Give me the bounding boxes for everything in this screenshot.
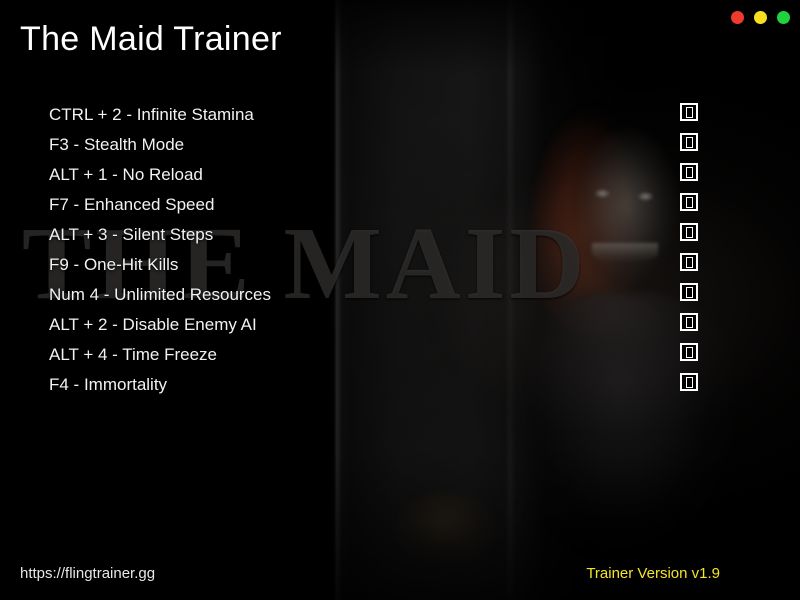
cheat-toggle-knob xyxy=(686,347,693,358)
cheat-row[interactable]: F9 - One-Hit Kills xyxy=(49,250,749,280)
cheat-toggle-2[interactable] xyxy=(680,133,698,151)
cheat-toggle-knob xyxy=(686,317,693,328)
cheat-label: F3 - Stealth Mode xyxy=(49,135,184,155)
trainer-window: THE MAID The Maid Trainer CTRL + 2 - Inf… xyxy=(0,0,800,600)
cheat-toggle-9[interactable] xyxy=(680,343,698,361)
cheat-label: ALT + 3 - Silent Steps xyxy=(49,225,213,245)
cheat-toggle-knob xyxy=(686,167,693,178)
cheat-row[interactable]: F3 - Stealth Mode xyxy=(49,130,749,160)
cheat-toggle-knob xyxy=(686,227,693,238)
cheat-label: F7 - Enhanced Speed xyxy=(49,195,214,215)
cheat-toggle-1[interactable] xyxy=(680,103,698,121)
footer-website-link[interactable]: https://flingtrainer.gg xyxy=(20,565,155,582)
cheat-row[interactable]: Num 4 - Unlimited Resources xyxy=(49,280,749,310)
cheat-label: F9 - One-Hit Kills xyxy=(49,255,178,275)
page-title: The Maid Trainer xyxy=(20,20,282,59)
cheat-toggle-10[interactable] xyxy=(680,373,698,391)
cheat-row[interactable]: ALT + 4 - Time Freeze xyxy=(49,340,749,370)
cheat-toggle-knob xyxy=(686,197,693,208)
cheat-row[interactable]: CTRL + 2 - Infinite Stamina xyxy=(49,100,749,130)
figure-hand xyxy=(396,492,494,562)
maximize-button[interactable] xyxy=(777,11,790,24)
footer-version-label: Trainer Version v1.9 xyxy=(586,565,720,582)
cheat-toggle-6[interactable] xyxy=(680,253,698,271)
cheat-label: ALT + 1 - No Reload xyxy=(49,165,203,185)
cheat-toggle-8[interactable] xyxy=(680,313,698,331)
cheat-toggle-knob xyxy=(686,287,693,298)
cheat-row[interactable]: F7 - Enhanced Speed xyxy=(49,190,749,220)
cheat-label: F4 - Immortality xyxy=(49,375,167,395)
cheat-toggle-knob xyxy=(686,257,693,268)
cheat-label: CTRL + 2 - Infinite Stamina xyxy=(49,105,254,125)
cheat-row[interactable]: F4 - Immortality xyxy=(49,370,749,400)
cheat-label: ALT + 4 - Time Freeze xyxy=(49,345,217,365)
cheat-row[interactable]: ALT + 3 - Silent Steps xyxy=(49,220,749,250)
cheat-toggle-knob xyxy=(686,137,693,148)
cheat-toggle-4[interactable] xyxy=(680,193,698,211)
cheat-row[interactable]: ALT + 2 - Disable Enemy AI xyxy=(49,310,749,340)
cheat-list: CTRL + 2 - Infinite StaminaF3 - Stealth … xyxy=(49,100,749,400)
close-button[interactable] xyxy=(731,11,744,24)
minimize-button[interactable] xyxy=(754,11,767,24)
cheat-toggle-knob xyxy=(686,377,693,388)
cheat-row[interactable]: ALT + 1 - No Reload xyxy=(49,160,749,190)
cheat-toggle-3[interactable] xyxy=(680,163,698,181)
cheat-toggle-7[interactable] xyxy=(680,283,698,301)
cheat-label: ALT + 2 - Disable Enemy AI xyxy=(49,315,257,335)
cheat-toggle-5[interactable] xyxy=(680,223,698,241)
cheat-toggle-knob xyxy=(686,107,693,118)
cheat-label: Num 4 - Unlimited Resources xyxy=(49,285,271,305)
window-controls xyxy=(731,11,790,24)
